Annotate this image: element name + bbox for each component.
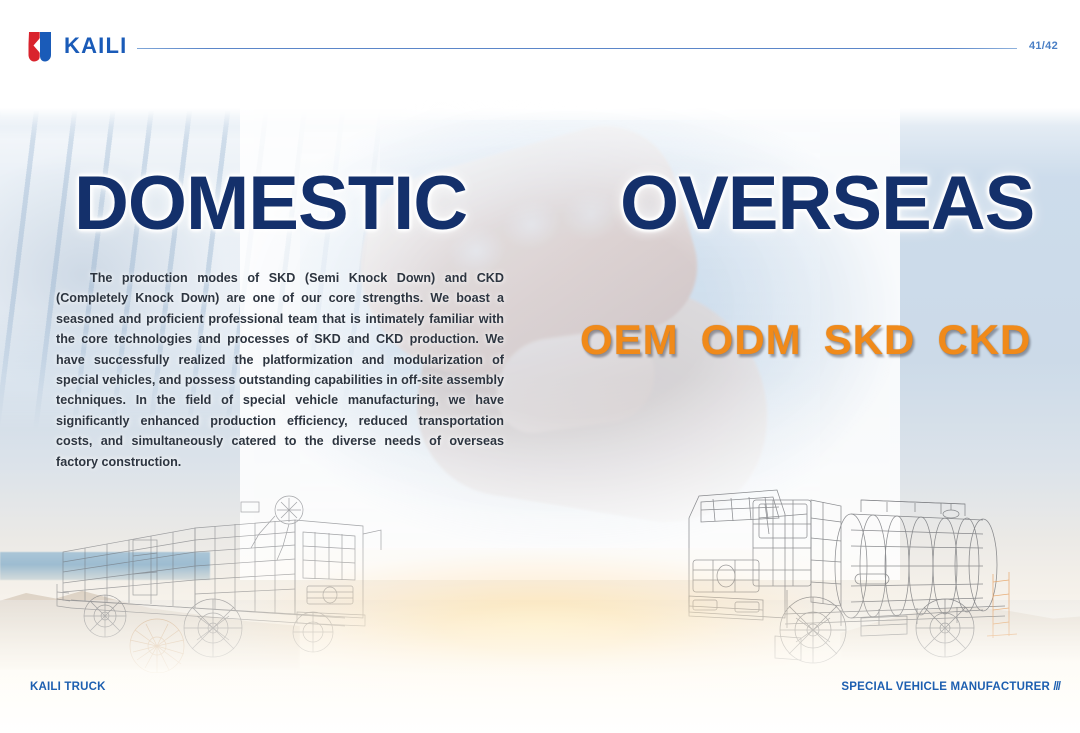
footer-tagline-text: SPECIAL VEHICLE MANUFACTURER	[841, 681, 1050, 693]
kaili-shield-logo-icon	[26, 30, 54, 62]
footer-slashes: ///	[1053, 681, 1060, 693]
slide-page: KAILI 41/42 DOMESTIC OVERSEAS The produc…	[0, 0, 1080, 733]
body-paragraph: The production modes of SKD (Semi Knock …	[56, 268, 504, 472]
service-tags: OEMODMSKDCKD	[580, 316, 1031, 364]
footer-tagline: SPECIAL VEHICLE MANUFACTURER ///	[841, 681, 1060, 693]
service-tag-skd: SKD	[824, 316, 916, 363]
bottom-white-fade	[0, 600, 1080, 733]
service-tag-odm: ODM	[701, 316, 802, 363]
heading-overseas: OVERSEAS	[620, 166, 1034, 242]
brand-logo[interactable]: KAILI	[26, 30, 127, 62]
service-tag-oem: OEM	[580, 316, 679, 363]
footer-brand-label: KAILI TRUCK	[30, 681, 106, 693]
brand-name: KAILI	[64, 33, 127, 59]
slide-header: KAILI 41/42	[0, 0, 1080, 92]
header-divider-line	[137, 48, 1017, 49]
service-tag-ckd: CKD	[937, 316, 1031, 363]
page-number: 41/42	[1029, 40, 1058, 52]
heading-domestic: DOMESTIC	[74, 166, 467, 242]
